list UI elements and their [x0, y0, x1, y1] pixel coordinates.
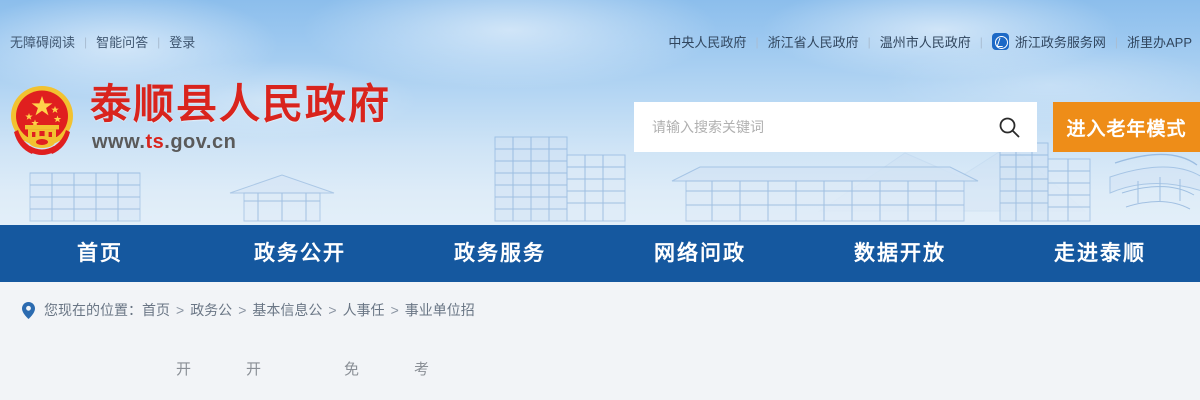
- zhejiang-service-icon: [992, 33, 1009, 50]
- site-logo[interactable]: 泰顺县人民政府 www.ts.gov.cn: [8, 80, 391, 156]
- site-banner: 无障碍阅读 | 智能问答 | 登录 中央人民政府 | 浙江省人民政府 | 温州市…: [0, 0, 1200, 225]
- tab-strip: 开 开 免 考: [0, 338, 1200, 400]
- central-gov-link[interactable]: 中央人民政府: [668, 32, 746, 51]
- nav-item-open-data[interactable]: 数据开放: [800, 225, 1000, 282]
- link-separator: |: [868, 35, 871, 49]
- breadcrumb-item-recruitment[interactable]: 事业单位招: [405, 300, 475, 320]
- breadcrumb-separator: >: [391, 302, 399, 318]
- nav-item-online-governance[interactable]: 网络问政: [600, 225, 800, 282]
- wenzhou-city-gov-link[interactable]: 温州市人民政府: [880, 32, 971, 51]
- tab-item-4[interactable]: 考: [414, 358, 429, 379]
- search-icon: [997, 115, 1021, 139]
- link-separator: |: [980, 35, 983, 49]
- elder-mode-button[interactable]: 进入老年模式: [1053, 102, 1200, 152]
- url-suffix: .gov.cn: [164, 131, 236, 153]
- zhelib-app-link[interactable]: 浙里办APP: [1127, 32, 1192, 51]
- zhejiang-gov-service-link[interactable]: 浙江政务服务网: [1015, 32, 1106, 51]
- breadcrumb-separator: >: [328, 302, 336, 318]
- link-separator: |: [755, 35, 758, 49]
- location-pin-icon: [22, 302, 35, 319]
- breadcrumb-item-personnel[interactable]: 人事任: [343, 300, 385, 320]
- site-url: www.ts.gov.cn: [92, 131, 391, 154]
- breadcrumb-prefix: 您现在的位置：: [44, 300, 142, 320]
- link-separator: |: [157, 35, 160, 49]
- breadcrumb-item-home[interactable]: 首页: [142, 300, 170, 320]
- nav-item-about-taishun[interactable]: 走进泰顺: [1000, 225, 1200, 282]
- tab-item-1[interactable]: 开: [176, 358, 191, 379]
- nav-item-gov-affairs-disclosure[interactable]: 政务公开: [200, 225, 400, 282]
- accessibility-reading-link[interactable]: 无障碍阅读: [10, 32, 75, 51]
- search-input[interactable]: [634, 103, 981, 151]
- main-navigation: 首页 政务公开 政务服务 网络问政 数据开放 走进泰顺: [0, 225, 1200, 282]
- url-highlight: ts: [145, 131, 164, 153]
- top-left-link-bar: 无障碍阅读 | 智能问答 | 登录: [10, 32, 195, 51]
- national-emblem-icon: [8, 80, 76, 156]
- breadcrumb: 您现在的位置： 首页 > 政务公 > 基本信息公 > 人事任 > 事业单位招: [0, 282, 1200, 338]
- search-bar: [634, 102, 1037, 152]
- breadcrumb-item-disclosure[interactable]: 政务公: [190, 300, 232, 320]
- link-separator: |: [1115, 35, 1118, 49]
- login-link[interactable]: 登录: [169, 32, 195, 51]
- breadcrumb-separator: >: [238, 302, 246, 318]
- page-title: 泰顺县人民政府: [90, 82, 391, 128]
- search-button[interactable]: [981, 103, 1037, 151]
- cloud-decoration: [300, 0, 720, 90]
- link-separator: |: [84, 35, 87, 49]
- top-right-link-bar: 中央人民政府 | 浙江省人民政府 | 温州市人民政府 | 浙江政务服务网 | 浙…: [668, 32, 1192, 51]
- url-prefix: www.: [92, 131, 145, 153]
- smart-qa-link[interactable]: 智能问答: [96, 32, 148, 51]
- breadcrumb-separator: >: [176, 302, 184, 318]
- nav-item-gov-services[interactable]: 政务服务: [400, 225, 600, 282]
- tab-item-3[interactable]: 免: [344, 358, 359, 379]
- zhejiang-prov-gov-link[interactable]: 浙江省人民政府: [768, 32, 859, 51]
- breadcrumb-item-basic-info[interactable]: 基本信息公: [252, 300, 322, 320]
- nav-item-home[interactable]: 首页: [0, 225, 200, 282]
- tab-item-2[interactable]: 开: [246, 358, 261, 379]
